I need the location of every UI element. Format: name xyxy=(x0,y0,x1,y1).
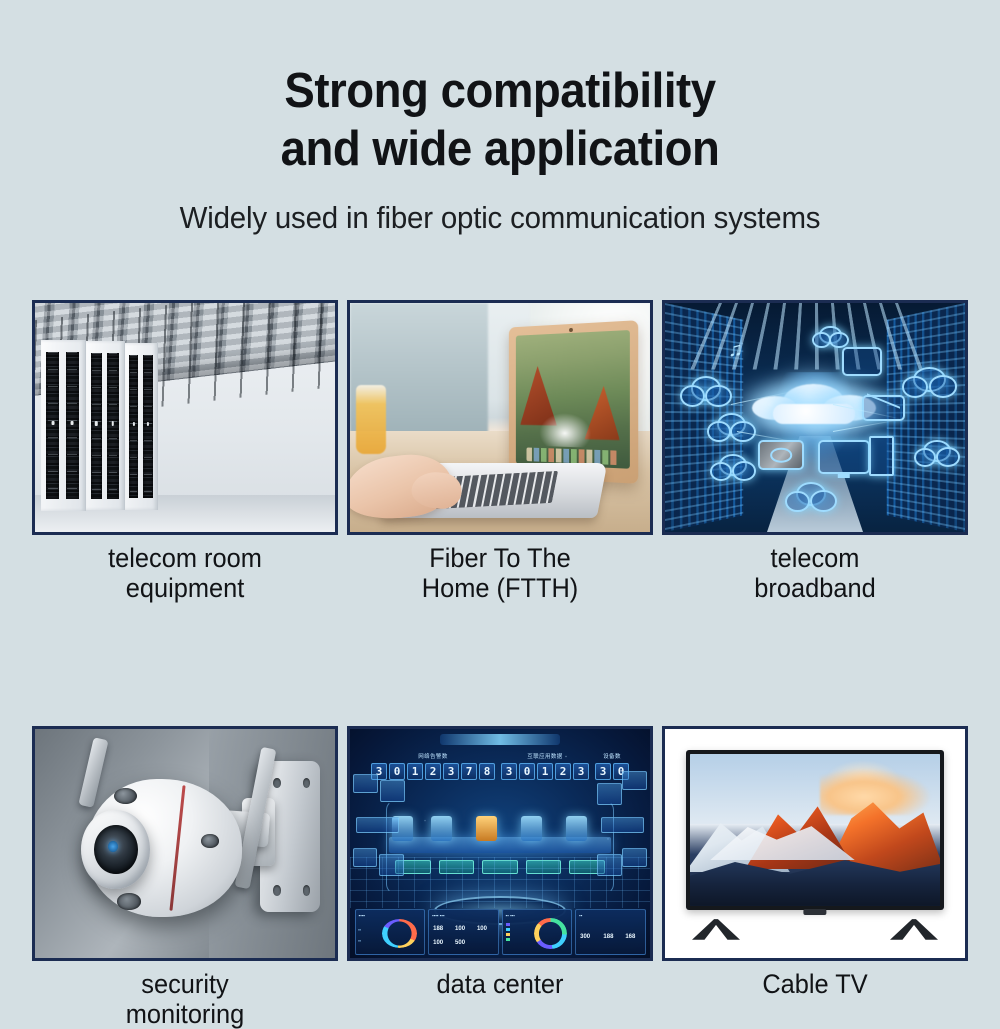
caption-cable-tv: Cable TV xyxy=(671,969,959,999)
tv-stand-right xyxy=(890,919,938,940)
panel-number: 300 xyxy=(580,934,590,940)
rack-bay xyxy=(129,355,139,498)
kpi-digits: 30123 xyxy=(501,763,589,780)
panel-stats-a: ▪▪▪▪ ▪▪▪ 188 100 100 100 500 xyxy=(428,909,499,955)
cloud-network-photo: ♫ xyxy=(665,303,965,532)
kpi-label: 网络告警数 xyxy=(371,752,495,760)
side-card xyxy=(353,848,377,867)
kpi-digit: 2 xyxy=(425,763,441,780)
cloud-icon xyxy=(812,326,845,347)
rack-latch xyxy=(51,421,54,425)
caption-line: telecom room xyxy=(41,543,329,573)
process-node xyxy=(476,816,497,841)
page-subtitle: Widely used in fiber optic communication… xyxy=(25,200,975,236)
caption-security: security monitoring xyxy=(41,969,329,1029)
ir-led-icon xyxy=(201,834,218,848)
rack-bay xyxy=(66,352,79,500)
caption-line: Fiber To The xyxy=(356,543,644,573)
rack-latch xyxy=(71,421,74,425)
side-card xyxy=(622,848,647,867)
panel-heading: ▪▪▪▪ ▪▪▪ xyxy=(432,913,495,918)
rack-latch xyxy=(147,422,149,426)
gallery-item-telecom-room: telecom room equipment xyxy=(32,300,338,603)
left-widget-column xyxy=(353,766,404,908)
side-card xyxy=(353,774,378,793)
music-note-icon: ♫ xyxy=(728,340,767,372)
panel-number: 188 xyxy=(603,934,613,940)
title-line-2: and wide application xyxy=(35,120,965,178)
panel-number: 100 xyxy=(455,926,465,932)
caption-line: Home (FTTH) xyxy=(356,573,644,603)
antenna-icon xyxy=(78,737,108,807)
image-frame-television xyxy=(662,726,968,961)
panel-heading: ▪▪▪▪ xyxy=(359,913,422,918)
kpi-row: 网络告警数 3012378 互联应用数据 30123 设备数 30 xyxy=(371,752,629,791)
cloud-icon xyxy=(710,454,752,479)
side-card xyxy=(380,780,405,802)
panel-number: 100 xyxy=(477,926,487,932)
caption-line: equipment xyxy=(41,573,329,603)
dashboard-top-bar xyxy=(440,734,560,745)
laptop-lid xyxy=(509,320,638,483)
panel-number: 100 xyxy=(433,940,443,946)
caption-data-center: data center xyxy=(356,969,644,999)
rack-bay xyxy=(107,353,118,499)
drink-cup-icon xyxy=(356,385,386,454)
panel-heading: ▪▪ xyxy=(579,913,642,918)
caption-line: monitoring xyxy=(41,999,329,1029)
process-node xyxy=(566,816,587,841)
kpi-label: 设备数 xyxy=(595,752,629,760)
caption-ftth: Fiber To The Home (FTTH) xyxy=(356,543,644,603)
kpi-digit: 1 xyxy=(407,763,423,780)
camera-body xyxy=(86,779,242,916)
red-stripe xyxy=(170,785,186,911)
panel-stats-b: ▪▪ 300 188 168 xyxy=(575,909,646,955)
camera-lens-icon xyxy=(94,825,138,874)
caption-line: broadband xyxy=(671,573,959,603)
panel-donut-left: ▪▪▪▪ ▪▪ ▪▪ xyxy=(355,909,426,955)
image-frame-security-camera xyxy=(32,726,338,961)
laptop-screen xyxy=(516,330,630,468)
smartphone-icon xyxy=(869,436,894,477)
donut-chart xyxy=(534,918,567,950)
promo-page: Strong compatibility and wide applicatio… xyxy=(0,0,1000,1000)
server-racks-photo xyxy=(35,303,335,532)
rack-bay xyxy=(91,353,102,499)
server-rack xyxy=(41,340,86,512)
page-title: Strong compatibility and wide applicatio… xyxy=(35,62,965,178)
panel-stat: ▪▪ xyxy=(358,938,361,943)
panel-heading: ▪▪ ▪▪▪ xyxy=(506,913,569,918)
cloud-icon xyxy=(680,376,728,406)
image-frame-server-racks xyxy=(32,300,338,535)
title-line-1: Strong compatibility xyxy=(35,62,965,120)
side-card xyxy=(356,817,399,833)
kpi-digit: 2 xyxy=(555,763,571,780)
monitor-icon xyxy=(818,440,870,474)
panel-number: 188 xyxy=(433,926,443,932)
panel-legend xyxy=(506,923,510,943)
caption-line: security xyxy=(41,969,329,999)
process-node xyxy=(431,816,452,841)
ir-led-icon xyxy=(114,788,137,804)
webcam-icon xyxy=(569,327,573,331)
caption-line: telecom xyxy=(671,543,959,573)
security-camera-photo xyxy=(35,729,335,958)
kpi-application-count: 互联应用数据 30123 xyxy=(501,752,589,780)
panel-donut-right: ▪▪ ▪▪▪ xyxy=(502,909,573,955)
side-card xyxy=(622,771,647,790)
kpi-label: 互联应用数据 xyxy=(501,752,589,760)
cloud-icon xyxy=(914,440,956,465)
television-photo xyxy=(665,729,965,958)
panel-number: 168 xyxy=(625,934,635,940)
kpi-digit: 3 xyxy=(443,763,459,780)
tv-stand-left xyxy=(692,919,740,940)
server-rack xyxy=(125,343,159,510)
kpi-digit: 7 xyxy=(461,763,477,780)
tv-screen xyxy=(690,754,940,906)
donut-chart xyxy=(382,919,418,948)
image-frame-dashboard: 网络告警数 3012378 互联应用数据 30123 设备数 30 xyxy=(347,726,653,961)
bottom-panel-row: ▪▪▪▪ ▪▪ ▪▪ ▪▪▪▪ ▪▪▪ 188 100 100 100 500 xyxy=(355,909,646,955)
rack-row xyxy=(41,340,338,512)
gallery-item-ftth: Fiber To The Home (FTTH) xyxy=(347,300,653,603)
caption-line: Cable TV xyxy=(671,969,959,999)
gallery-item-security: security monitoring xyxy=(32,726,338,1029)
kpi-digit: 3 xyxy=(573,763,589,780)
side-card xyxy=(601,817,644,833)
caption-telecom-room: telecom room equipment xyxy=(41,543,329,603)
server-stack-icon xyxy=(842,347,882,376)
cloud-icon xyxy=(707,413,752,440)
kpi-digit: 0 xyxy=(519,763,535,780)
tv-bezel xyxy=(686,750,944,910)
rack-latch xyxy=(95,421,97,425)
gallery-item-broadband: ♫ telecom broadband xyxy=(662,300,968,603)
gallery-item-cable-tv: Cable TV xyxy=(662,726,968,1029)
panel-stat: ▪▪ xyxy=(358,927,361,932)
image-frame-cloud-network: ♫ xyxy=(662,300,968,535)
rack-latch xyxy=(133,422,135,426)
screen-mist xyxy=(539,412,591,447)
lens-bezel xyxy=(81,810,150,890)
application-gallery-grid: telecom room equipment xyxy=(32,300,968,1029)
side-card xyxy=(597,783,621,805)
tv-brand-logo xyxy=(803,909,826,915)
cloud-icon xyxy=(785,482,833,512)
server-rack xyxy=(86,341,125,510)
caption-broadband: telecom broadband xyxy=(671,543,959,603)
kpi-digit: 1 xyxy=(537,763,553,780)
side-card xyxy=(379,854,404,876)
image-frame-laptop xyxy=(347,300,653,535)
ir-led-icon xyxy=(117,893,140,909)
kpi-digit: 8 xyxy=(479,763,495,780)
right-widget-column xyxy=(596,766,647,908)
side-card xyxy=(597,854,621,876)
kpi-digit: 3 xyxy=(501,763,517,780)
rack-bay xyxy=(46,352,59,500)
data-dashboard-photo: 网络告警数 3012378 互联应用数据 30123 设备数 30 xyxy=(350,729,650,958)
gallery-item-data-center: 网络告警数 3012378 互联应用数据 30123 设备数 30 xyxy=(347,726,653,1029)
caption-line: data center xyxy=(356,969,644,999)
cloud-icon xyxy=(902,367,953,397)
rack-latch xyxy=(112,421,114,425)
panel-number: 500 xyxy=(455,940,465,946)
camera-icon xyxy=(758,440,804,469)
laptop-typing-photo xyxy=(350,303,650,532)
rack-bay xyxy=(143,355,153,498)
process-node xyxy=(521,816,542,841)
page-header: Strong compatibility and wide applicatio… xyxy=(0,0,1000,236)
